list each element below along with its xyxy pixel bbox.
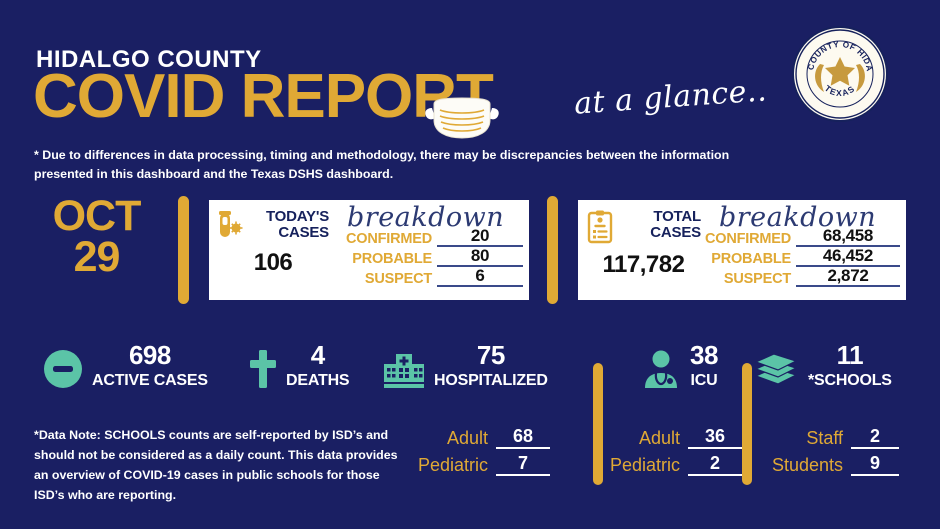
breakdown-row: PROBABLE 46,452	[705, 247, 906, 267]
total-cases-card: TOTAL CASES 117,782 breakdown CONFIRMED …	[578, 200, 906, 300]
schools-students-label: Students	[772, 455, 843, 476]
todays-cases-breakdown: breakdown CONFIRMED 20 PROBABLE 80 SUSPE…	[333, 200, 529, 300]
breakdown-row-label: CONFIRMED	[705, 231, 791, 247]
breakdown-row-value: 6	[437, 267, 523, 287]
hospitalized-breakdown-row: Pediatric 7	[418, 449, 550, 476]
stat-deaths: 4 DEATHS	[248, 342, 349, 390]
total-cases-summary: TOTAL CASES 117,782	[578, 200, 705, 300]
stat-hospitalized-value: 75	[477, 342, 505, 368]
breakdown-row-label: SUSPECT	[365, 271, 432, 287]
breakdown-row-value: 20	[437, 227, 523, 247]
county-seal: THE COUNTY OF HIDALGO TEXAS	[790, 24, 890, 124]
hospitalized-pediatric-label: Pediatric	[418, 455, 488, 476]
stat-schools-value: 11	[837, 342, 864, 368]
books-stack-icon	[752, 350, 800, 390]
todays-cases-total: 106	[217, 249, 329, 277]
schools-breakdown: Staff 2 Students 9	[772, 422, 899, 476]
infographic-canvas: HIDALGO COUNTY COVID REPORT at a glance.…	[0, 0, 940, 529]
breakdown-row: PROBABLE 80	[333, 247, 529, 267]
todays-cases-card: TODAY'S CASES 106 breakdown CONFIRMED 20…	[209, 200, 529, 300]
breakdown-row-value: 80	[437, 247, 523, 267]
stat-hospitalized: 75 HOSPITALIZED	[382, 342, 548, 390]
breakdown-row-label: SUSPECT	[724, 271, 791, 287]
icu-pediatric-value: 2	[688, 454, 742, 476]
schools-breakdown-row: Students 9	[772, 449, 899, 476]
total-cases-breakdown: breakdown CONFIRMED 68,458 PROBABLE 46,4…	[705, 200, 906, 300]
stat-hospitalized-label: HOSPITALIZED	[434, 372, 548, 390]
breakdown-row: SUSPECT 2,872	[705, 267, 906, 287]
hospitalized-adult-value: 68	[496, 427, 550, 449]
report-date-month: OCT	[34, 196, 159, 237]
total-cases-label: TOTAL CASES	[619, 209, 701, 240]
stat-deaths-label: DEATHS	[286, 372, 349, 390]
hospitalized-breakdown: Adult 68 Pediatric 7	[418, 422, 550, 476]
hospitalized-breakdown-row: Adult 68	[418, 422, 550, 449]
disclaimer-text: * Due to differences in data processing,…	[34, 146, 734, 184]
todays-cases-summary: TODAY'S CASES 106	[209, 200, 333, 300]
stat-schools: 11 *SCHOOLS	[752, 342, 892, 390]
divider-bar-icu-schools	[742, 363, 752, 485]
minus-circle-icon	[42, 348, 84, 390]
stat-icu-label: ICU	[690, 372, 717, 390]
data-note-text: *Data Note: SCHOOLS counts are self-repo…	[34, 426, 404, 505]
hospitalized-pediatric-value: 7	[496, 454, 550, 476]
schools-staff-value: 2	[851, 427, 899, 449]
schools-breakdown-row: Staff 2	[772, 422, 899, 449]
stat-schools-label: *SCHOOLS	[808, 372, 892, 390]
face-mask-icon	[424, 88, 500, 144]
breakdown-row: SUSPECT 6	[333, 267, 529, 287]
schools-students-value: 9	[851, 454, 899, 476]
icu-breakdown: Adult 36 Pediatric 2	[610, 422, 742, 476]
report-date: OCT 29	[34, 196, 159, 278]
breakdown-row-value: 68,458	[796, 227, 900, 247]
stat-active-cases: 698 ACTIVE CASES	[42, 342, 208, 390]
total-cases-total: 117,782	[586, 251, 701, 279]
breakdown-row-value: 2,872	[796, 267, 900, 287]
stat-active-cases-label: ACTIVE CASES	[92, 372, 208, 390]
divider-bar-hosp-icu	[593, 363, 603, 485]
stat-icu: 38 ICU	[640, 342, 718, 390]
test-tube-virus-icon	[217, 209, 243, 243]
breakdown-row-label: PROBABLE	[711, 251, 791, 267]
report-date-day: 29	[34, 237, 159, 278]
stat-icu-value: 38	[690, 342, 718, 368]
icu-breakdown-row: Pediatric 2	[610, 449, 742, 476]
breakdown-row-label: CONFIRMED	[346, 231, 432, 247]
hospital-icon	[382, 348, 426, 390]
icu-pediatric-label: Pediatric	[610, 455, 680, 476]
stat-active-cases-value: 698	[129, 342, 171, 368]
cross-icon	[248, 348, 278, 390]
icu-adult-label: Adult	[639, 428, 680, 449]
divider-bar-left	[178, 196, 189, 304]
divider-bar-mid	[547, 196, 558, 304]
icu-breakdown-row: Adult 36	[610, 422, 742, 449]
clipboard-checklist-icon	[586, 209, 614, 245]
glance-script-text: at a glance..	[573, 73, 768, 121]
todays-cases-label: TODAY'S CASES	[248, 209, 329, 240]
icu-adult-value: 36	[688, 427, 742, 449]
schools-staff-label: Staff	[806, 428, 843, 449]
breakdown-row-label: PROBABLE	[352, 251, 432, 267]
breakdown-row-value: 46,452	[796, 247, 900, 267]
doctor-icon	[640, 348, 682, 390]
stat-deaths-value: 4	[311, 342, 325, 368]
hospitalized-adult-label: Adult	[447, 428, 488, 449]
